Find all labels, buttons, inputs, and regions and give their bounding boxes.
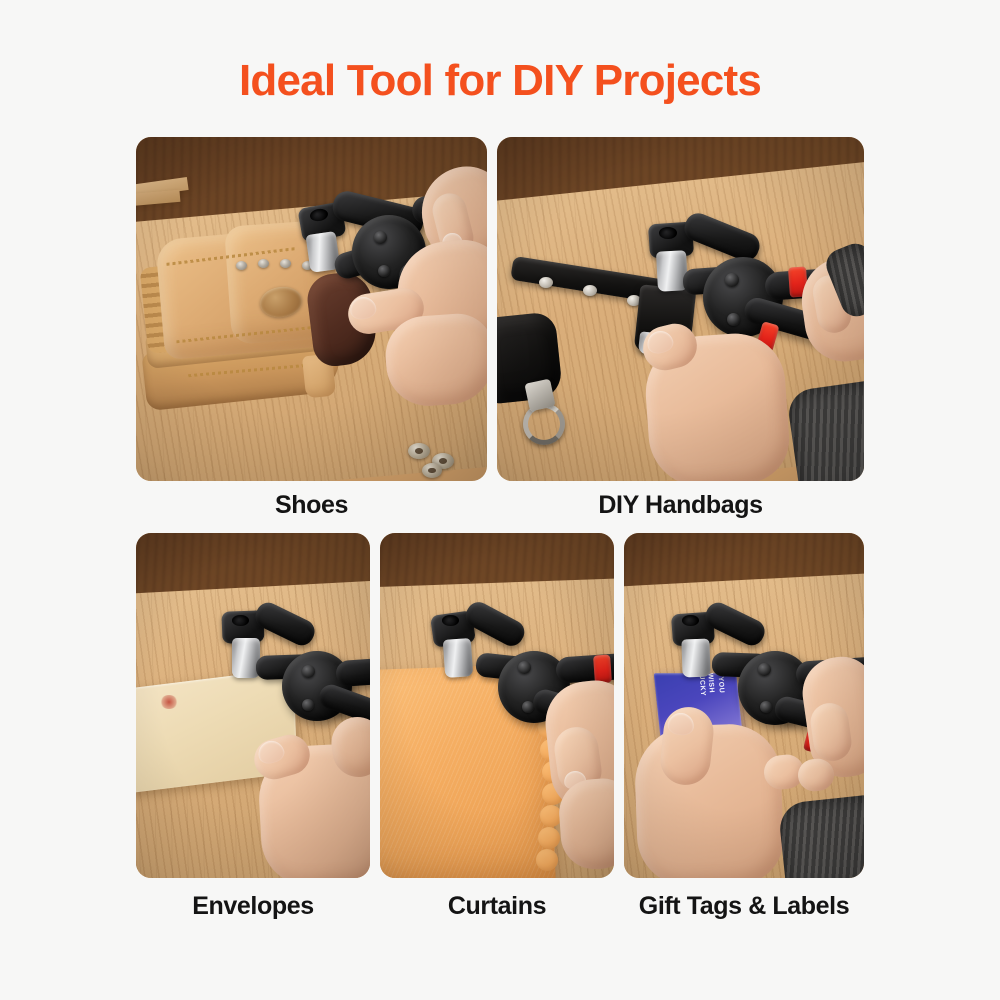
photo-shoes bbox=[136, 137, 487, 481]
tool-die-hole bbox=[442, 615, 459, 626]
tool-stud bbox=[378, 265, 390, 277]
gallery-card-curtains bbox=[380, 533, 614, 878]
boot-eyelet bbox=[280, 259, 291, 268]
eyelet-washer bbox=[422, 463, 442, 478]
photo-envelopes bbox=[136, 533, 370, 878]
fabric-scallop bbox=[536, 849, 558, 871]
tool-stud bbox=[725, 273, 739, 287]
caption-gifttags: Gift Tags & Labels bbox=[614, 891, 874, 921]
handbag-clasp bbox=[524, 379, 555, 412]
page-title: Ideal Tool for DIY Projects bbox=[0, 55, 1000, 107]
tool-die-hole bbox=[682, 615, 699, 626]
sweater-sleeve bbox=[786, 379, 864, 481]
caption-envelopes: Envelopes bbox=[126, 891, 380, 921]
hand-palm bbox=[383, 311, 487, 408]
envelope-stamp bbox=[160, 695, 178, 709]
tool-chrome-die bbox=[443, 638, 474, 678]
caption-shoes: Shoes bbox=[136, 490, 487, 520]
strap-rivet bbox=[539, 277, 553, 288]
photo-curtains bbox=[380, 533, 614, 878]
gallery-card-handbags bbox=[497, 137, 864, 481]
photo-gifttags: LUCKY WISH YOU bbox=[624, 533, 864, 878]
fabric-scallop bbox=[538, 827, 560, 849]
gallery-card-envelopes bbox=[136, 533, 370, 878]
tool-chrome-die bbox=[681, 639, 710, 678]
tool-stud bbox=[758, 663, 771, 676]
gallery-card-gifttags: LUCKY WISH YOU bbox=[624, 533, 864, 878]
strap-rivet bbox=[583, 285, 597, 296]
tool-stud bbox=[518, 661, 531, 674]
tool-stud bbox=[374, 231, 387, 244]
tool-stud bbox=[302, 665, 315, 678]
caption-curtains: Curtains bbox=[370, 891, 624, 921]
boot-eyelet bbox=[236, 261, 247, 270]
caption-handbags: DIY Handbags bbox=[497, 490, 864, 520]
gallery-card-shoes bbox=[136, 137, 487, 481]
tool-stud bbox=[727, 313, 740, 326]
photo-handbags bbox=[497, 137, 864, 481]
boot-eyelet bbox=[258, 259, 269, 268]
tool-red-grip bbox=[593, 654, 612, 683]
tool-stud bbox=[302, 699, 314, 711]
tool-stud bbox=[760, 701, 772, 713]
gift-tag-text-line3: YOU bbox=[716, 676, 725, 693]
tool-die-hole bbox=[659, 227, 677, 239]
tool-die-hole bbox=[232, 615, 249, 626]
promo-page: Ideal Tool for DIY Projects bbox=[0, 0, 1000, 1000]
sweater-sleeve bbox=[777, 794, 864, 878]
eyelet-washer bbox=[408, 443, 430, 459]
